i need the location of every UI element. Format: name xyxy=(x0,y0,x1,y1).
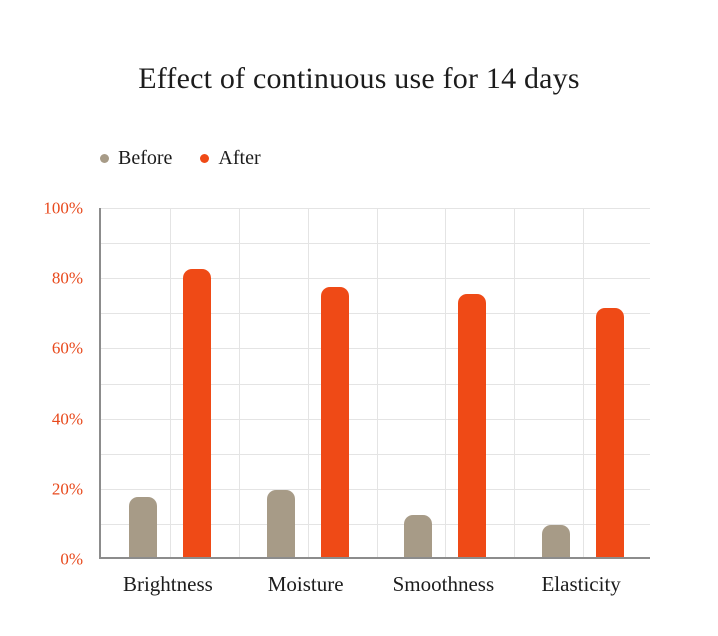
x-axis-tick-label-smoothness: Smoothness xyxy=(393,572,495,597)
legend-item-before[interactable]: Before xyxy=(100,148,172,168)
bar-group xyxy=(404,208,486,557)
bar-smoothness-after[interactable] xyxy=(458,294,486,557)
y-axis-tick-label: 80% xyxy=(52,270,83,287)
legend-swatch-after-icon xyxy=(200,154,209,163)
y-axis-tick-label: 40% xyxy=(52,410,83,427)
bar-elasticity-before[interactable] xyxy=(542,525,570,557)
bar-smoothness-before[interactable] xyxy=(404,515,432,557)
bar-moisture-before[interactable] xyxy=(267,490,295,557)
bars-layer xyxy=(101,208,650,557)
legend-label-after: After xyxy=(218,148,260,168)
chart-container: Effect of continuous use for 14 days Bef… xyxy=(0,0,718,636)
x-axis-tick-labels: BrightnessMoistureSmoothnessElasticity xyxy=(99,572,650,608)
bar-moisture-after[interactable] xyxy=(321,287,349,557)
legend-label-before: Before xyxy=(118,148,172,168)
y-axis-tick-label: 60% xyxy=(52,340,83,357)
chart-title: Effect of continuous use for 14 days xyxy=(0,62,718,97)
bar-group xyxy=(267,208,349,557)
y-axis-tick-label: 100% xyxy=(43,200,83,217)
x-axis-tick-label-brightness: Brightness xyxy=(123,572,213,597)
chart-legend: Before After xyxy=(100,148,261,168)
y-axis-tick-label: 0% xyxy=(60,551,83,568)
plot-area xyxy=(99,208,650,559)
bar-brightness-before[interactable] xyxy=(129,497,157,557)
y-axis-tick-label: 20% xyxy=(52,480,83,497)
x-axis-tick-label-moisture: Moisture xyxy=(268,572,344,597)
bar-group xyxy=(129,208,211,557)
bar-brightness-after[interactable] xyxy=(183,269,211,557)
x-axis-tick-label-elasticity: Elasticity xyxy=(541,572,620,597)
legend-item-after[interactable]: After xyxy=(200,148,260,168)
y-axis-tick-labels: 0%20%40%60%80%100% xyxy=(0,208,91,559)
bar-group xyxy=(542,208,624,557)
legend-swatch-before-icon xyxy=(100,154,109,163)
bar-elasticity-after[interactable] xyxy=(596,308,624,557)
